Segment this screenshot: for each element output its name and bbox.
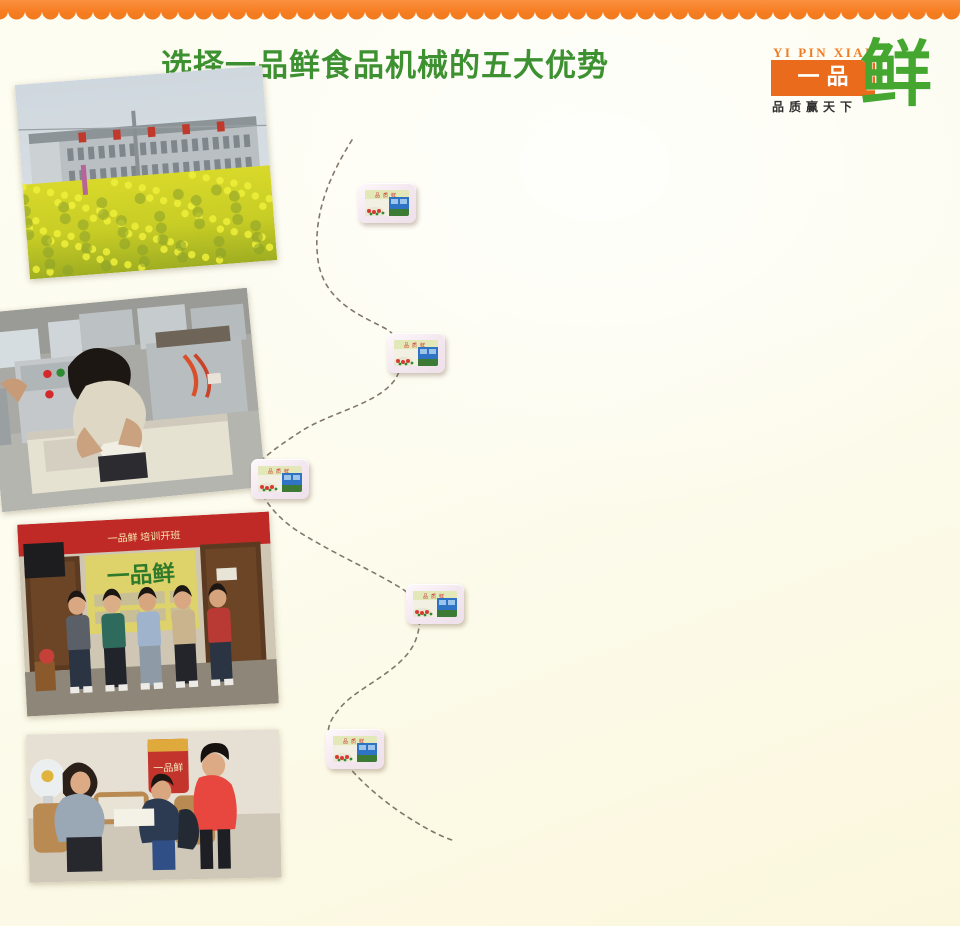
svg-text:品: 品	[404, 343, 409, 349]
advantage-badge-1-image: 品质鲜	[365, 190, 409, 216]
svg-text:质: 质	[383, 192, 388, 199]
orange-scalloped-band	[0, 0, 960, 22]
svg-text:品: 品	[343, 739, 348, 745]
svg-text:品: 品	[268, 469, 273, 475]
brand-logo: YI PIN XIAN 一品 鲜 品质赢天下	[764, 36, 956, 120]
svg-text:质: 质	[276, 468, 281, 475]
svg-text:品: 品	[375, 193, 380, 199]
photo-workshop-worker-content	[0, 288, 266, 512]
photo-customer-signing-content: 一品鲜	[26, 729, 281, 882]
svg-text:品: 品	[423, 594, 428, 600]
advantage-badge-3-image: 品质鲜	[258, 466, 302, 492]
svg-text:质: 质	[351, 738, 356, 745]
logo-big-character: 鲜	[860, 32, 932, 116]
advantage-badge-2[interactable]: 品质鲜	[387, 333, 445, 373]
svg-text:质: 质	[412, 342, 417, 349]
advantage-badge-3[interactable]: 品质鲜	[251, 459, 309, 499]
advantage-badge-5[interactable]: 品质鲜	[326, 729, 384, 769]
advantage-badge-4-image: 品质鲜	[413, 591, 457, 617]
logo-slogan: 品质赢天下	[772, 98, 857, 115]
photo-factory-rapeseed-field-content	[15, 66, 278, 280]
photo-team-group: 一品鲜 培训开班 一品鲜	[17, 512, 279, 717]
photo-team-group-content: 一品鲜 培训开班 一品鲜	[17, 512, 279, 717]
advantage-badge-4[interactable]: 品质鲜	[406, 584, 464, 624]
advantage-badge-5-image: 品质鲜	[333, 736, 377, 762]
advantage-badge-1[interactable]: 品质鲜	[358, 183, 416, 223]
svg-text:质: 质	[431, 593, 436, 600]
svg-text:一品鲜: 一品鲜	[106, 561, 175, 589]
advantage-badge-2-image: 品质鲜	[394, 340, 438, 366]
scallop-edge-icon	[0, 0, 960, 22]
photo-customer-signing: 一品鲜	[26, 729, 281, 882]
page-root: 选择一品鲜食品机械的五大优势 YI PIN XIAN 一品 鲜 品质赢天下	[0, 0, 960, 926]
photo-workshop-worker	[0, 288, 266, 512]
photo-factory-rapeseed-field	[15, 66, 278, 280]
svg-text:一品鲜: 一品鲜	[153, 761, 184, 774]
